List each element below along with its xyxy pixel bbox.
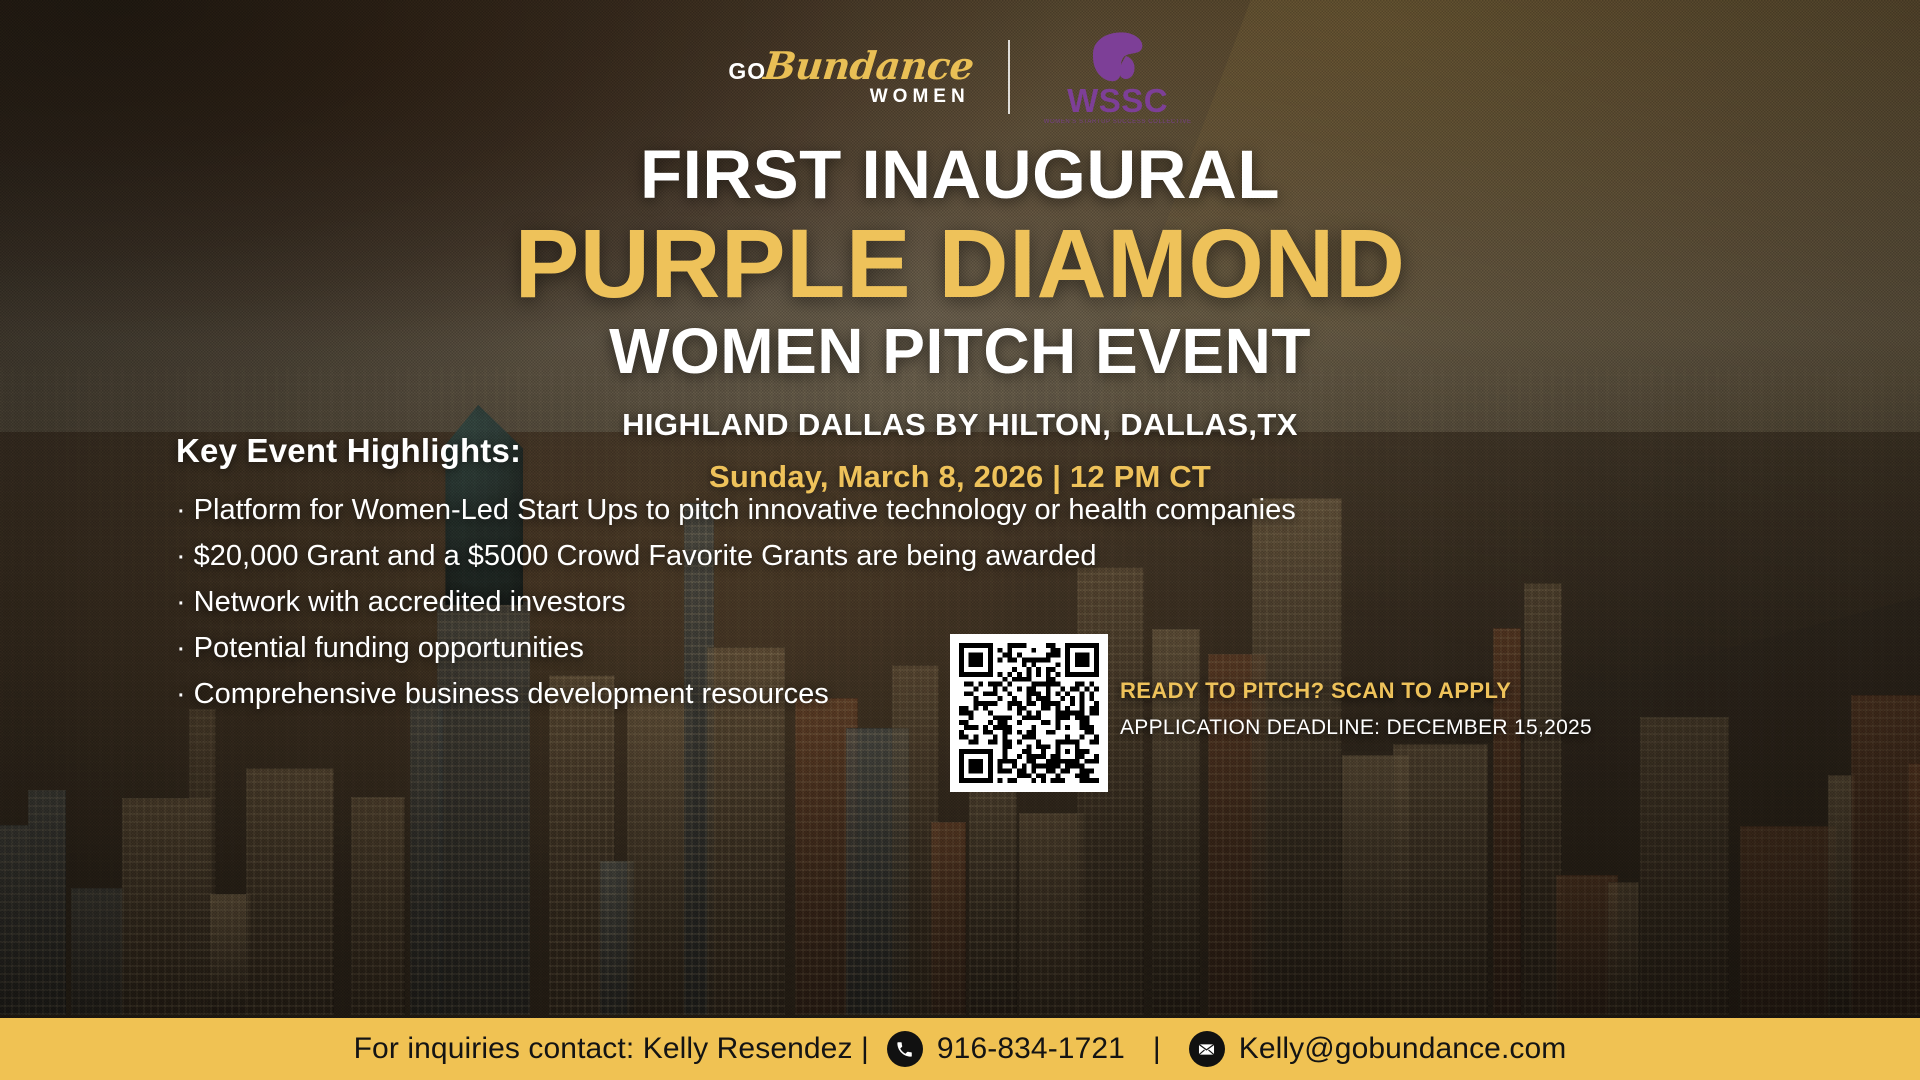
bullet-glyph: · [176,492,186,529]
footer-email-group[interactable]: Kelly@gobundance.com [1189,1031,1567,1067]
wssc-tagline: WOMEN'S STARTUP SUCCESS COLLECTIVE [1044,119,1192,125]
bullet-glyph: · [176,584,186,621]
bullet-glyph: · [176,630,186,667]
bullet-glyph: · [176,676,186,713]
headline-line-women-pitch-event: WOMEN PITCH EVENT [0,318,1920,385]
logo-bar: GO Bundance WOMEN WSSC WOMEN'S STARTUP S… [0,28,1920,125]
wssc-emblem-icon [1083,28,1153,86]
call-to-action-block: READY TO PITCH? SCAN TO APPLY APPLICATIO… [1120,678,1592,740]
logo-divider [1008,40,1010,114]
highlight-item: ·Network with accredited investors [176,584,1296,621]
qr-code-block[interactable] [950,634,1108,792]
gobundance-go-text: GO [728,60,766,83]
highlights-title: Key Event Highlights: [176,432,1296,470]
cta-headline: READY TO PITCH? SCAN TO APPLY [1120,678,1592,704]
footer-separator: | [1143,1032,1171,1066]
footer-phone-number[interactable]: 916-834-1721 [937,1032,1125,1066]
headline-line-first-inaugural: FIRST INAUGURAL [0,140,1920,209]
highlight-text: Platform for Women-Led Start Ups to pitc… [194,494,1296,526]
highlight-text: $20,000 Grant and a $5000 Crowd Favorite… [194,540,1097,572]
contact-footer-bar: For inquiries contact: Kelly Resendez | … [0,1018,1920,1080]
wssc-logo: WSSC WOMEN'S STARTUP SUCCESS COLLECTIVE [1044,28,1192,125]
highlight-item: ·Potential funding opportunities [176,630,1296,667]
highlight-text: Comprehensive business development resou… [194,678,829,710]
qr-code[interactable] [959,643,1099,783]
highlight-item: ·$20,000 Grant and a $5000 Crowd Favorit… [176,538,1296,575]
phone-icon [887,1031,923,1067]
application-deadline: APPLICATION DEADLINE: DECEMBER 15,2025 [1120,716,1592,740]
bullet-glyph: · [176,538,186,575]
headline-line-purple-diamond: PURPLE DIAMOND [0,213,1920,316]
footer-intro-text: For inquiries contact: Kelly Resendez | [354,1032,869,1066]
qr-code-card[interactable] [950,634,1108,792]
email-icon [1189,1031,1225,1067]
event-flyer: GO Bundance WOMEN WSSC WOMEN'S STARTUP S… [0,0,1920,1080]
footer-phone-group[interactable]: 916-834-1721 [887,1031,1125,1067]
highlight-text: Network with accredited investors [194,586,626,618]
wssc-wordmark: WSSC [1067,84,1168,117]
gobundance-women-text: WOMEN [870,87,970,106]
gobundance-script-text: Bundance [762,47,976,85]
footer-email-address[interactable]: Kelly@gobundance.com [1239,1032,1567,1066]
highlight-text: Potential funding opportunities [194,632,584,664]
highlight-item: ·Platform for Women-Led Start Ups to pit… [176,492,1296,529]
gobundance-women-logo: GO Bundance WOMEN [728,47,973,106]
